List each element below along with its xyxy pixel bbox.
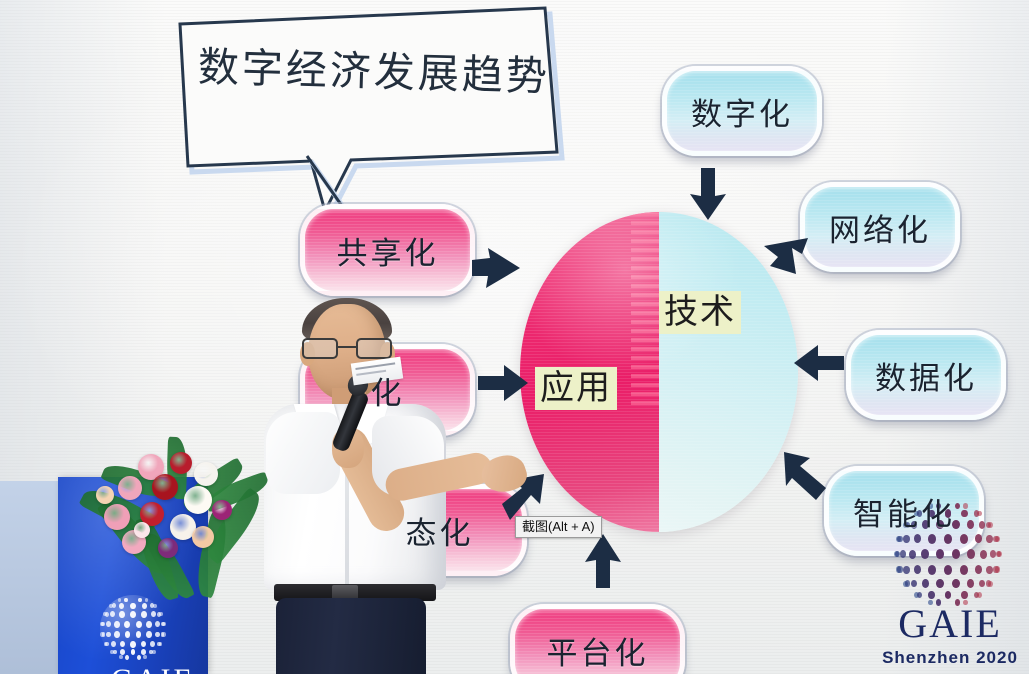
bouquet-flower	[152, 474, 178, 500]
arrow-left-icon	[792, 342, 846, 384]
bouquet-flower	[118, 476, 142, 500]
arrow-up-icon	[582, 532, 624, 590]
node-label: 化	[371, 368, 405, 413]
page-title: 数字经济发展趋势	[197, 33, 569, 103]
node-label: 智能化	[853, 489, 955, 534]
node-pingtaihua[interactable]: 平台化	[510, 604, 685, 674]
bouquet-flower	[184, 486, 212, 514]
podium-globe-icon	[100, 595, 166, 661]
node-shuzihua[interactable]: 数字化	[662, 66, 822, 156]
node-label: 数据化	[875, 353, 977, 398]
lens-right	[356, 338, 392, 359]
node-label: 平台化	[547, 628, 649, 673]
sleeve-left	[266, 412, 340, 494]
bouquet-flower	[192, 526, 214, 548]
title-speech-bubble: 数字经济发展趋势	[170, 6, 600, 236]
node-wangluohua[interactable]: 网络化	[800, 182, 960, 272]
arrow-down-icon	[688, 166, 728, 222]
node-label: 数字化	[691, 89, 793, 134]
node-gongxianghua[interactable]: 共享化	[300, 204, 475, 296]
gaie-logo-text: GAIE	[876, 604, 1024, 644]
bouquet-flower	[212, 500, 232, 520]
arrow-up-left-icon	[780, 448, 830, 502]
node-label: 网络化	[829, 205, 931, 250]
bouquet-flower	[158, 538, 178, 558]
bouquet-flower	[134, 522, 150, 538]
lens-left	[302, 338, 338, 359]
bouquet-flower	[104, 504, 130, 530]
speaker-glasses	[300, 338, 394, 360]
flower-bouquet	[74, 452, 254, 602]
gaie-logo-subtitle: Shenzhen 2020	[876, 648, 1024, 668]
speaker-figure	[236, 300, 536, 674]
glasses-bridge	[338, 346, 356, 348]
node-label: 态化	[406, 508, 474, 553]
bouquet-flower	[170, 452, 192, 474]
center-label-application: 应用	[535, 367, 617, 410]
center-label-technology: 技术	[659, 291, 741, 334]
node-label: 共享化	[337, 228, 439, 273]
arrow-right-icon	[470, 246, 526, 294]
node-shujuhua[interactable]: 数据化	[846, 330, 1006, 420]
arrow-down-left-icon	[762, 232, 812, 284]
screenshot-tooltip: 截图(Alt + A)	[515, 516, 602, 538]
screenshot-stage: 数字经济发展趋势 应用 技术 共享化 化 态化 平台化 数字化 网络化 数据化	[0, 0, 1029, 674]
bouquet-flower	[96, 486, 114, 504]
podium-logo-text: GAIE	[98, 663, 208, 674]
bouquet-flower	[194, 462, 218, 486]
speaker-trousers	[276, 598, 426, 674]
